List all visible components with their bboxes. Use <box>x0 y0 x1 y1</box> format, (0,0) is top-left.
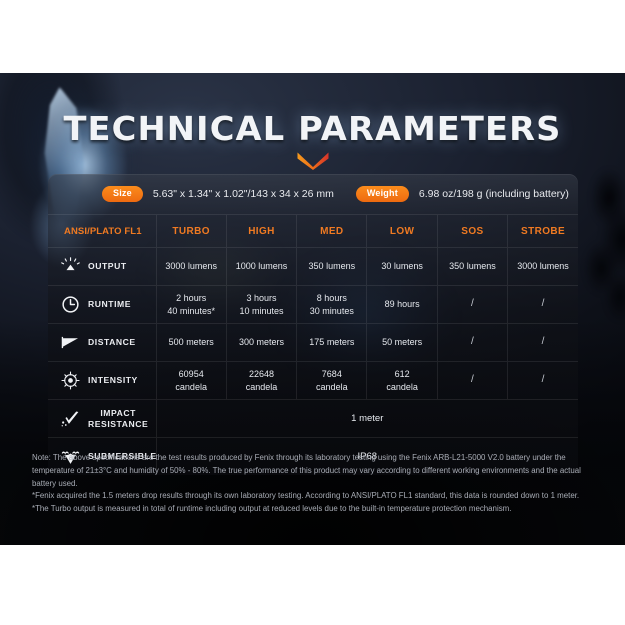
cell-value: 350 lumens <box>437 248 507 286</box>
chevron-down-container <box>0 151 625 170</box>
cell-value: / <box>508 324 578 362</box>
intensity-crosshair-icon <box>60 370 81 391</box>
footnote-2: *Fenix acquired the 1.5 meters drop resu… <box>32 490 594 503</box>
row-label-text: INTENSITY <box>88 375 138 386</box>
cell-value: 1 meter <box>156 400 578 438</box>
row-label-intensity: INTENSITY <box>48 362 156 400</box>
weight-pill-label: Weight <box>356 186 409 202</box>
chevron-down-icon <box>296 151 330 170</box>
footnotes: Note: The above specifications are the t… <box>32 452 594 516</box>
table-body: OUTPUT3000 lumens1000 lumens350 lumens30… <box>48 248 578 476</box>
clock-icon <box>60 294 81 315</box>
cell-value: / <box>508 286 578 324</box>
cell-value: 8 hours30 minutes <box>297 286 367 324</box>
specification-panel: Size 5.63" x 1.34" x 1.02"/143 x 34 x 26… <box>48 174 578 475</box>
cell-value: 3 hours10 minutes <box>226 286 296 324</box>
table-row: RUNTIME2 hours40 minutes*3 hours10 minut… <box>48 286 578 324</box>
table-header: ANSI/PLATO FL1 TURBO HIGH MED LOW SOS ST… <box>48 215 578 248</box>
table-row: OUTPUT3000 lumens1000 lumens350 lumens30… <box>48 248 578 286</box>
row-label-output: OUTPUT <box>48 248 156 286</box>
specification-table: ANSI/PLATO FL1 TURBO HIGH MED LOW SOS ST… <box>48 215 578 475</box>
footnote-1: Note: The above specifications are the t… <box>32 452 594 490</box>
header-row: ANSI/PLATO FL1 TURBO HIGH MED LOW SOS ST… <box>48 215 578 248</box>
cell-value: 89 hours <box>367 286 437 324</box>
cell-value: 60954candela <box>156 362 226 400</box>
header-mode-strobe: STROBE <box>508 215 578 248</box>
cell-value: 1000 lumens <box>226 248 296 286</box>
header-mode-turbo: TURBO <box>156 215 226 248</box>
cell-value: 175 meters <box>297 324 367 362</box>
header-standard: ANSI/PLATO FL1 <box>48 215 156 248</box>
header-mode-low: LOW <box>367 215 437 248</box>
cell-value: 3000 lumens <box>508 248 578 286</box>
row-label-text: IMPACTRESISTANCE <box>88 408 148 429</box>
page-title: TECHNICAL PARAMETERS <box>0 109 625 148</box>
cell-value: 612candela <box>367 362 437 400</box>
size-value: 5.63" x 1.34" x 1.02"/143 x 34 x 26 mm <box>153 188 334 200</box>
cell-value: / <box>437 286 507 324</box>
cell-value: 500 meters <box>156 324 226 362</box>
row-label-text: OUTPUT <box>88 261 127 272</box>
table-row: DISTANCE500 meters300 meters175 meters50… <box>48 324 578 362</box>
cell-value: 50 meters <box>367 324 437 362</box>
header-mode-high: HIGH <box>226 215 296 248</box>
header-mode-sos: SOS <box>437 215 507 248</box>
cell-value: 22648candela <box>226 362 296 400</box>
cell-value: 350 lumens <box>297 248 367 286</box>
row-label-impact: IMPACTRESISTANCE <box>48 400 156 438</box>
size-weight-row: Size 5.63" x 1.34" x 1.02"/143 x 34 x 26… <box>48 174 578 215</box>
impact-drop-icon <box>60 408 81 429</box>
header-mode-med: MED <box>297 215 367 248</box>
row-label-distance: DISTANCE <box>48 324 156 362</box>
cell-value: / <box>437 324 507 362</box>
table-row: INTENSITY60954candela22648candela7684can… <box>48 362 578 400</box>
cell-value: 2 hours40 minutes* <box>156 286 226 324</box>
cell-value: 7684candela <box>297 362 367 400</box>
poster-stage: TECHNICAL PARAMETERS Size 5.63" x 1.34" … <box>0 73 625 545</box>
row-label-runtime: RUNTIME <box>48 286 156 324</box>
cell-value: / <box>437 362 507 400</box>
cell-value: / <box>508 362 578 400</box>
row-label-text: DISTANCE <box>88 337 136 348</box>
cell-value: 30 lumens <box>367 248 437 286</box>
beam-distance-icon <box>60 332 81 353</box>
sunburst-icon <box>60 256 81 277</box>
footnote-3: *The Turbo output is measured in total o… <box>32 503 594 516</box>
cell-value: 300 meters <box>226 324 296 362</box>
cell-value: 3000 lumens <box>156 248 226 286</box>
table-row: IMPACTRESISTANCE1 meter <box>48 400 578 438</box>
size-pill-label: Size <box>102 186 143 202</box>
weight-value: 6.98 oz/198 g (including battery) <box>419 188 569 200</box>
row-label-text: RUNTIME <box>88 299 131 310</box>
